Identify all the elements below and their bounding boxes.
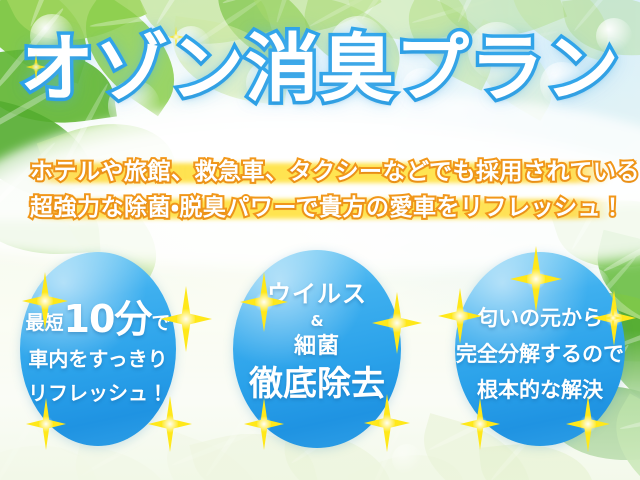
feature-odor-line-3: 根本的な解決: [455, 372, 625, 408]
feature-virus-text: ウイルス & 細菌 徹底除去: [233, 278, 401, 406]
title-area: オゾン消臭プラン: [0, 32, 640, 106]
feature-odor-line-1: 匂いの元から: [455, 300, 625, 336]
feature-speed-suffix: で: [151, 312, 170, 334]
feature-circle-virus: ウイルス & 細菌 徹底除去: [233, 250, 401, 448]
ozone-plan-banner: オゾン消臭プラン ホテルや旅館、救急車、タクシーなどでも採用されている 超強力な…: [0, 0, 640, 480]
feature-odor-line-2: 完全分解するので: [455, 336, 625, 372]
feature-virus-line-3: 細菌: [233, 332, 401, 362]
feature-virus-line-4: 徹底除去: [233, 362, 401, 406]
feature-speed-line-1: 最短10分で: [20, 300, 176, 342]
feature-speed-text: 最短10分で 車内をすっきり リフレッシュ！: [20, 300, 176, 410]
feature-speed-prefix: 最短: [26, 312, 64, 334]
feature-speed-number: 10分: [64, 297, 152, 341]
feature-speed-line-3: リフレッシュ！: [20, 376, 176, 410]
feature-circle-odor: 匂いの元から 完全分解するので 根本的な解決: [455, 252, 625, 446]
subtitle-line-2: 超強力な除菌・脱臭パワーで貴方の愛車をリフレッシュ！: [30, 192, 610, 224]
subtitle-text-1: ホテルや旅館、救急車、タクシーなどでも採用されている: [30, 156, 610, 188]
subtitle-text-2: 超強力な除菌・脱臭パワーで貴方の愛車をリフレッシュ！: [30, 192, 610, 224]
subtitle-line-1: ホテルや旅館、救急車、タクシーなどでも採用されている: [30, 156, 610, 188]
subtitle-area: ホテルや旅館、救急車、タクシーなどでも採用されている 超強力な除菌・脱臭パワーで…: [0, 156, 640, 228]
page-title: オゾン消臭プラン: [20, 32, 620, 106]
feature-speed-line-2: 車内をすっきり: [20, 342, 176, 376]
feature-virus-line-1: ウイルス: [233, 278, 401, 310]
feature-odor-text: 匂いの元から 完全分解するので 根本的な解決: [455, 300, 625, 408]
feature-virus-line-2: &: [233, 310, 401, 332]
feature-circle-speed: 最短10分で 車内をすっきり リフレッシュ！: [20, 252, 176, 446]
